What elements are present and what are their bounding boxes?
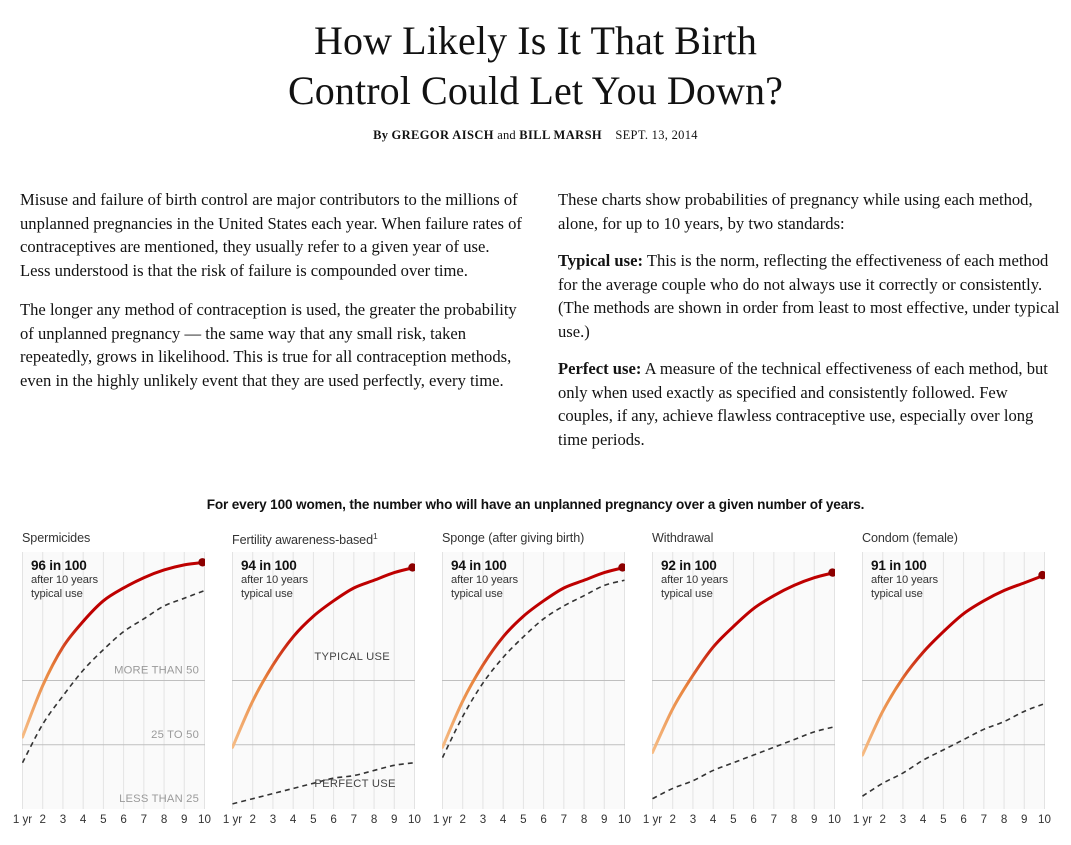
x-axis-tick-label: 5 [940, 813, 946, 826]
headline-line-2: Control Could Let You Down? [136, 66, 936, 116]
x-axis-tick-label: 7 [561, 813, 567, 826]
byline-author-1[interactable]: GREGOR AISCH [392, 128, 494, 142]
x-axis-tick-label: 9 [1021, 813, 1027, 826]
chart-x-axis: 1 yr2345678910 [442, 809, 625, 831]
x-axis-tick-label: 3 [480, 813, 486, 826]
chart-x-axis: 1 yr2345678910 [862, 809, 1045, 831]
chart-panel-title: Spermicides [22, 531, 227, 552]
x-axis-tick-label: 2 [39, 813, 45, 826]
zone-label: LESS THAN 25 [119, 793, 199, 805]
chart-plot-area: TYPICAL USEPERFECT USE94 in 100after 10 … [232, 552, 415, 809]
chart-panel-2: Fertility awareness-based1TYPICAL USEPER… [232, 531, 437, 831]
x-axis-tick-label: 9 [811, 813, 817, 826]
x-axis-tick-label: 8 [1001, 813, 1007, 826]
x-axis-tick-label: 1 yr [223, 813, 242, 826]
x-axis-tick-label: 1 yr [853, 813, 872, 826]
x-axis-tick-label: 4 [710, 813, 716, 826]
body-column-right: These charts show probabilities of pregn… [558, 188, 1060, 465]
chart-panel-title: Fertility awareness-based1 [232, 531, 437, 552]
x-axis-tick-label: 1 yr [643, 813, 662, 826]
x-axis-tick-label: 4 [920, 813, 926, 826]
x-axis-tick-label: 3 [60, 813, 66, 826]
x-axis-tick-label: 6 [330, 813, 336, 826]
x-axis-tick-label: 8 [791, 813, 797, 826]
x-axis-tick-label: 6 [540, 813, 546, 826]
chart-panel-3: Sponge (after giving birth)94 in 100afte… [442, 531, 647, 831]
x-axis-tick-label: 8 [371, 813, 377, 826]
chart-panel-row: SpermicidesMORE THAN 5025 TO 50LESS THAN… [0, 531, 1071, 831]
x-axis-tick-label: 7 [981, 813, 987, 826]
zone-label: MORE THAN 50 [114, 665, 199, 677]
x-axis-tick-label: 4 [80, 813, 86, 826]
perfect-use-label: Perfect use: [558, 359, 641, 378]
x-axis-tick-label: 7 [351, 813, 357, 826]
series-annotation-label: PERFECT USE [314, 778, 395, 790]
x-axis-tick-label: 6 [750, 813, 756, 826]
x-axis-tick-label: 8 [161, 813, 167, 826]
x-axis-tick-label: 3 [690, 813, 696, 826]
chart-section-title: For every 100 women, the number who will… [0, 497, 1071, 512]
x-axis-tick-label: 5 [730, 813, 736, 826]
x-axis-tick-label: 2 [879, 813, 885, 826]
x-axis-tick-label: 10 [828, 813, 841, 826]
chart-x-axis: 1 yr2345678910 [232, 809, 415, 831]
x-axis-tick-label: 6 [960, 813, 966, 826]
paragraph-intro-2: The longer any method of contraception i… [20, 298, 522, 392]
byline-date: SEPT. 13, 2014 [615, 128, 697, 142]
x-axis-tick-label: 7 [141, 813, 147, 826]
byline-and: and [497, 128, 516, 142]
paragraph-intro-1: Misuse and failure of birth control are … [20, 188, 522, 282]
byline-author-2[interactable]: BILL MARSH [519, 128, 602, 142]
byline-by: By [373, 128, 388, 142]
x-axis-tick-label: 3 [900, 813, 906, 826]
x-axis-tick-label: 8 [581, 813, 587, 826]
paragraph-perfect-use: Perfect use: A measure of the technical … [558, 357, 1060, 451]
zone-label: 25 TO 50 [151, 729, 199, 741]
paragraph-charts-intro: These charts show probabilities of pregn… [558, 188, 1060, 235]
chart-panel-title: Withdrawal [652, 531, 857, 552]
x-axis-tick-label: 2 [249, 813, 255, 826]
x-axis-tick-label: 5 [520, 813, 526, 826]
x-axis-tick-label: 10 [408, 813, 421, 826]
chart-plot-area: 94 in 100after 10 yearstypical use [442, 552, 625, 809]
headline-line-1: How Likely Is It That Birth [136, 16, 936, 66]
x-axis-tick-label: 2 [459, 813, 465, 826]
page-headline: How Likely Is It That Birth Control Coul… [136, 16, 936, 116]
x-axis-tick-label: 9 [601, 813, 607, 826]
typical-use-label: Typical use: [558, 251, 643, 270]
chart-plot-area: 91 in 100after 10 yearstypical use [862, 552, 1045, 809]
x-axis-tick-label: 10 [198, 813, 211, 826]
x-axis-tick-label: 10 [618, 813, 631, 826]
chart-x-axis: 1 yr2345678910 [652, 809, 835, 831]
x-axis-tick-label: 4 [290, 813, 296, 826]
chart-panel-title: Sponge (after giving birth) [442, 531, 647, 552]
chart-panel-1: SpermicidesMORE THAN 5025 TO 50LESS THAN… [22, 531, 227, 831]
paragraph-typical-use: Typical use: This is the norm, reflectin… [558, 249, 1060, 343]
x-axis-tick-label: 9 [181, 813, 187, 826]
x-axis-tick-label: 7 [771, 813, 777, 826]
x-axis-tick-label: 9 [391, 813, 397, 826]
x-axis-tick-label: 2 [669, 813, 675, 826]
chart-plot-area: MORE THAN 5025 TO 50LESS THAN 2596 in 10… [22, 552, 205, 809]
chart-plot-area: 92 in 100after 10 yearstypical use [652, 552, 835, 809]
chart-panel-5: Condom (female)91 in 100after 10 yearsty… [862, 531, 1067, 831]
x-axis-tick-label: 5 [100, 813, 106, 826]
x-axis-tick-label: 5 [310, 813, 316, 826]
chart-panel-title: Condom (female) [862, 531, 1067, 552]
x-axis-tick-label: 1 yr [433, 813, 452, 826]
series-annotation-label: TYPICAL USE [314, 651, 390, 663]
x-axis-tick-label: 1 yr [13, 813, 32, 826]
byline: By GREGOR AISCH and BILL MARSH SEPT. 13,… [0, 128, 1071, 143]
x-axis-tick-label: 10 [1038, 813, 1051, 826]
chart-x-axis: 1 yr2345678910 [22, 809, 205, 831]
chart-panel-4: Withdrawal92 in 100after 10 yearstypical… [652, 531, 857, 831]
x-axis-tick-label: 3 [270, 813, 276, 826]
body-column-left: Misuse and failure of birth control are … [20, 188, 522, 465]
x-axis-tick-label: 4 [500, 813, 506, 826]
x-axis-tick-label: 6 [120, 813, 126, 826]
article-body: Misuse and failure of birth control are … [20, 188, 1060, 465]
chart-panel-title-footnote-marker[interactable]: 1 [373, 531, 378, 541]
